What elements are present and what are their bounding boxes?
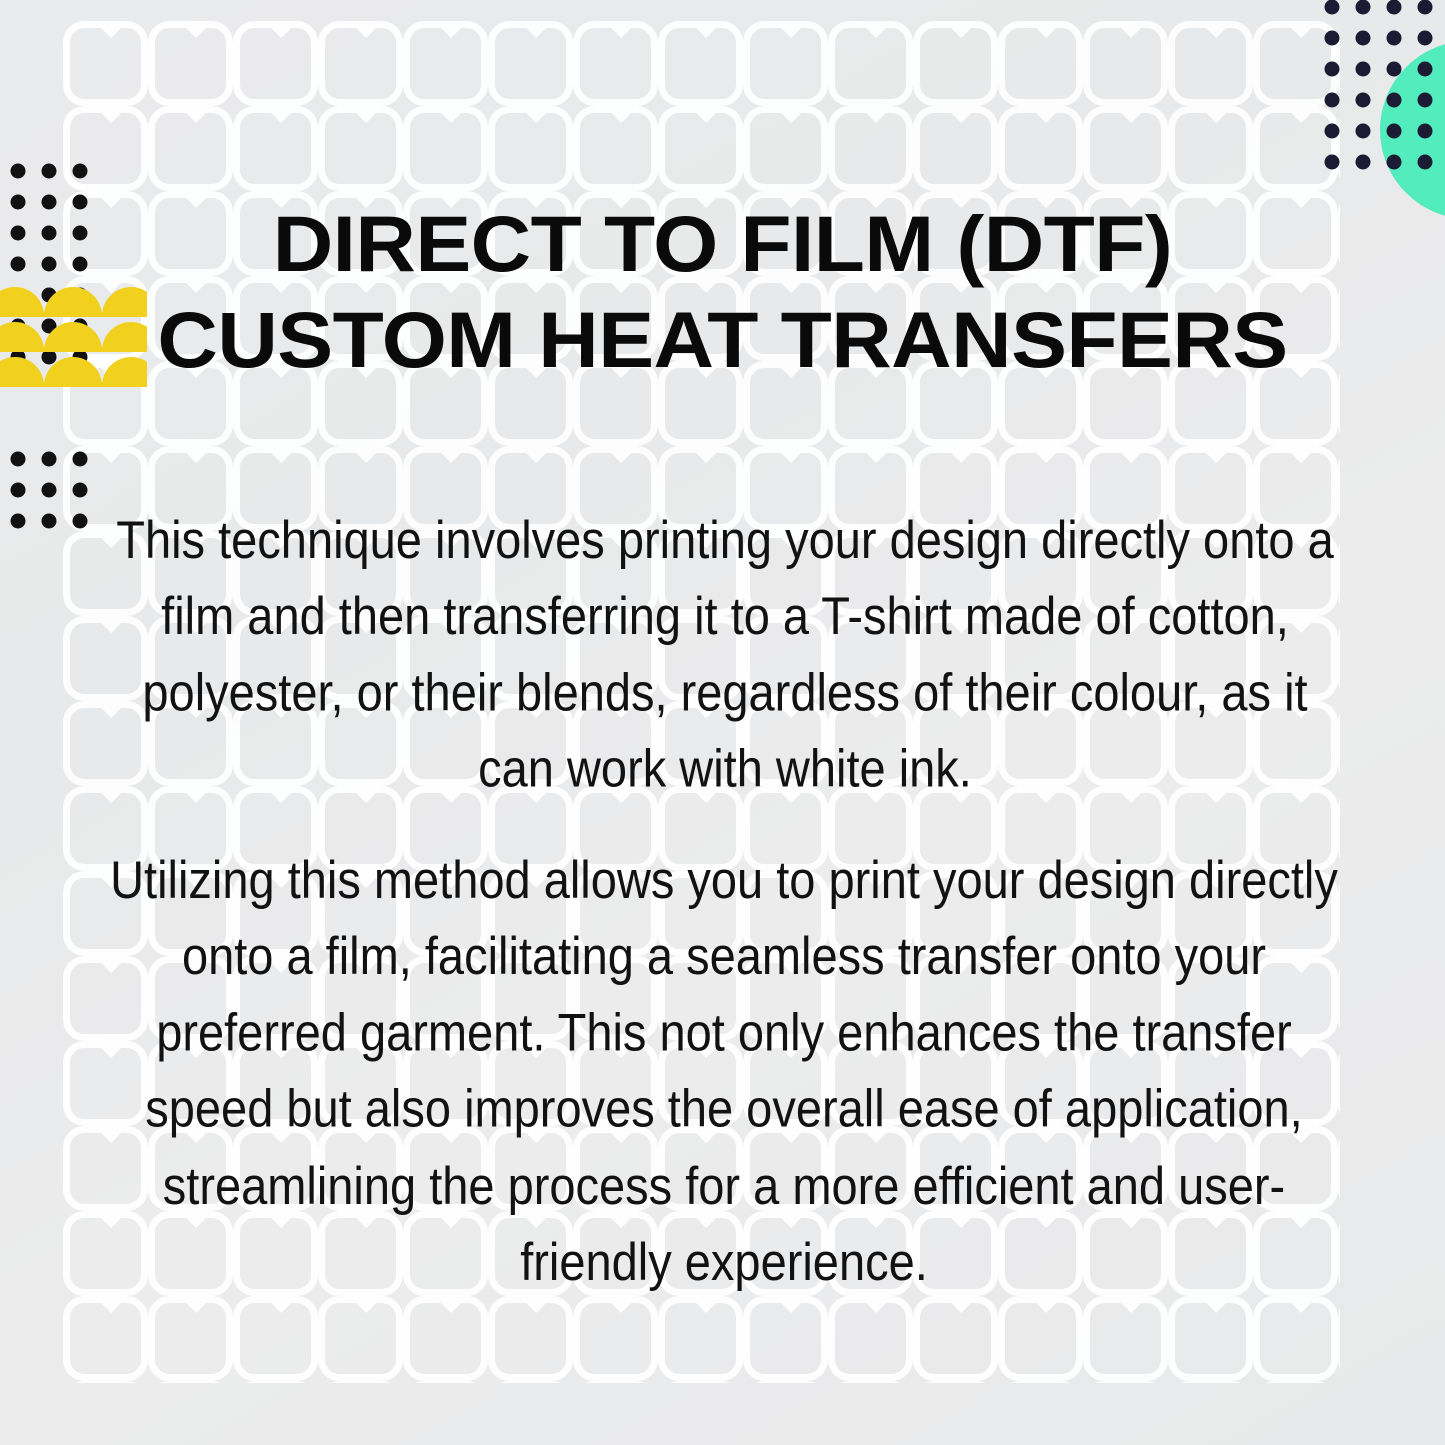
poster-content: DIRECT TO FILM (DTF) CUSTOM HEAT TRANSFE… [0, 0, 1445, 1445]
page-title: DIRECT TO FILM (DTF) CUSTOM HEAT TRANSFE… [126, 196, 1319, 389]
body-paragraph-2: Utilizing this method allows you to prin… [88, 842, 1360, 1300]
poster-canvas: DIRECT TO FILM (DTF) CUSTOM HEAT TRANSFE… [0, 0, 1445, 1445]
page-title-line-1: DIRECT TO FILM (DTF) [126, 196, 1319, 292]
body-paragraph-1: This technique involves printing your de… [100, 502, 1350, 807]
page-title-line-2: CUSTOM HEAT TRANSFERS [126, 292, 1319, 388]
